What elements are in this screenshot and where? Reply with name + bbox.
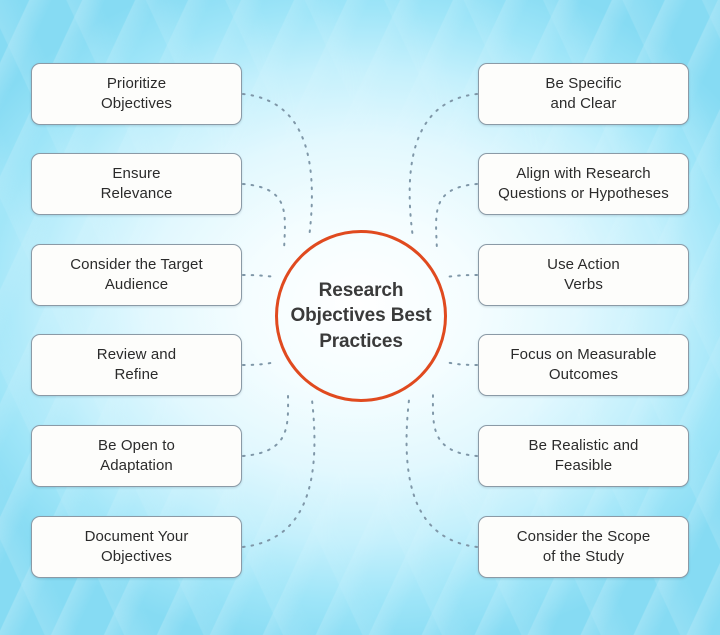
node-left-5-label: Be Open to Adaptation — [98, 436, 175, 476]
node-left-6[interactable]: Document Your Objectives — [31, 516, 242, 578]
node-right-4-label: Focus on Measurable Outcomes — [510, 345, 656, 385]
node-left-5[interactable]: Be Open to Adaptation — [31, 425, 242, 487]
node-left-2[interactable]: Ensure Relevance — [31, 153, 242, 215]
node-right-3-label: Use Action Verbs — [547, 255, 620, 295]
node-right-1[interactable]: Be Specific and Clear — [478, 63, 689, 125]
connector-left-3 — [243, 275, 276, 277]
connector-right-4 — [446, 362, 477, 365]
node-left-4-label: Review and Refine — [97, 345, 176, 385]
node-right-4[interactable]: Focus on Measurable Outcomes — [478, 334, 689, 396]
node-right-6-label: Consider the Scope of the Study — [517, 527, 651, 567]
node-right-2-label: Align with Research Questions or Hypothe… — [498, 164, 669, 204]
node-left-1-label: Prioritize Objectives — [101, 74, 172, 114]
node-left-2-label: Ensure Relevance — [101, 164, 173, 204]
connector-left-6 — [243, 400, 314, 547]
connector-right-1 — [410, 94, 477, 238]
connector-right-6 — [407, 400, 477, 547]
node-right-1-label: Be Specific and Clear — [545, 74, 621, 114]
node-right-5-label: Be Realistic and Feasible — [529, 436, 639, 476]
node-right-2[interactable]: Align with Research Questions or Hypothe… — [478, 153, 689, 215]
center-title: Research Objectives Best Practices — [275, 230, 447, 402]
connector-right-3 — [446, 275, 477, 277]
node-right-5[interactable]: Be Realistic and Feasible — [478, 425, 689, 487]
node-left-1[interactable]: Prioritize Objectives — [31, 63, 242, 125]
node-right-3[interactable]: Use Action Verbs — [478, 244, 689, 306]
mindmap-canvas: Prioritize Objectives Ensure Relevance C… — [0, 0, 720, 635]
connector-left-1 — [243, 94, 312, 238]
node-left-3-label: Consider the Target Audience — [70, 255, 203, 295]
node-left-6-label: Document Your Objectives — [85, 527, 189, 567]
node-right-6[interactable]: Consider the Scope of the Study — [478, 516, 689, 578]
connector-left-4 — [243, 362, 276, 365]
node-left-4[interactable]: Review and Refine — [31, 334, 242, 396]
node-left-3[interactable]: Consider the Target Audience — [31, 244, 242, 306]
